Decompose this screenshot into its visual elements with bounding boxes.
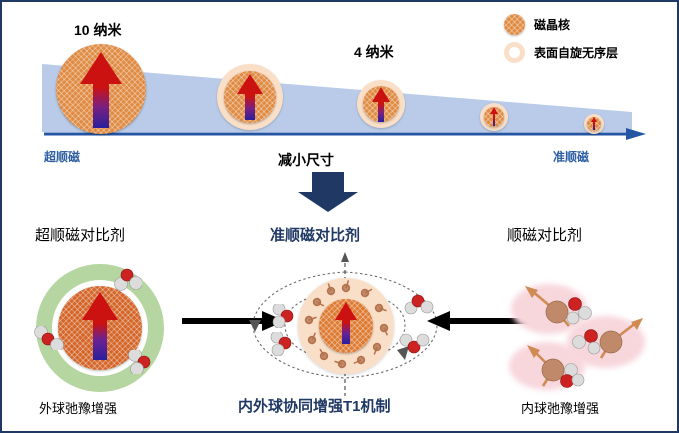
legend-item-core: 磁晶核 [504, 14, 618, 35]
nanoparticle-5-spin-arrow-icon [590, 117, 598, 131]
caption-outer-sphere-relaxation: 外球弛豫增强 [39, 398, 117, 417]
legend: 磁晶核 表面自旋无序层 [504, 14, 618, 63]
water-molecule-icon [128, 350, 158, 374]
water-molecule-icon [271, 304, 301, 328]
legend-core-swatch-icon [504, 14, 525, 35]
figure-root: 磁晶核 表面自旋无序层 10 纳米 [0, 0, 679, 433]
transition-arrow-down-icon [294, 172, 364, 214]
nanoparticle-1 [56, 44, 146, 134]
caption-synergistic-t1-mechanism: 内外球协同增强T1机制 [238, 395, 391, 416]
size-label-4nm: 4 纳米 [354, 42, 394, 62]
water-molecule-icon [34, 326, 64, 350]
superparamagnetic-particle-group [36, 264, 164, 392]
section-heading-superparamagnetic-agent: 超顺磁对比剂 [35, 224, 125, 245]
section-heading-quasi-paramagnetic-agent: 准顺磁对比剂 [270, 224, 360, 245]
nanoparticle-4-spin-arrow-icon [489, 107, 499, 127]
water-molecule-icon [112, 268, 142, 292]
nanoparticle-3 [357, 80, 405, 128]
caption-inner-sphere-relaxation: 内球弛豫增强 [521, 398, 599, 417]
section-heading-paramagnetic-agent: 顺磁对比剂 [507, 224, 582, 245]
water-molecule-icon [269, 332, 299, 356]
axis-label-quasi-paramagnetic: 准顺磁 [553, 148, 589, 165]
legend-item-shell-label: 表面自旋无序层 [534, 44, 618, 61]
nanoparticle-4 [480, 103, 508, 131]
quasi-paramagnetic-particle-group [245, 250, 445, 400]
axis-label-superparamagnetic: 超顺磁 [44, 148, 80, 165]
legend-item-core-label: 磁晶核 [534, 16, 570, 33]
middle-label-decreasing-size: 减小尺寸 [278, 150, 334, 170]
legend-item-shell: 表面自旋无序层 [504, 42, 618, 63]
legend-shell-swatch-icon [504, 42, 525, 63]
nanoparticle-5 [584, 114, 604, 134]
surface-spin-arrows [298, 278, 394, 374]
nanoparticle-1-spin-arrow-icon [78, 50, 124, 130]
nanoparticle-2 [217, 64, 283, 130]
paramagnetic-complex-group [497, 282, 667, 392]
nanoparticle-2-spin-arrow-icon [235, 72, 265, 122]
size-label-10nm: 10 纳米 [74, 20, 121, 40]
water-molecule-icon [398, 332, 430, 356]
paramagnetic-ion-water-complex-icon [511, 340, 603, 396]
superparamagnetic-spin-arrow-icon [80, 290, 120, 362]
nanoparticle-3-spin-arrow-icon [370, 86, 392, 124]
